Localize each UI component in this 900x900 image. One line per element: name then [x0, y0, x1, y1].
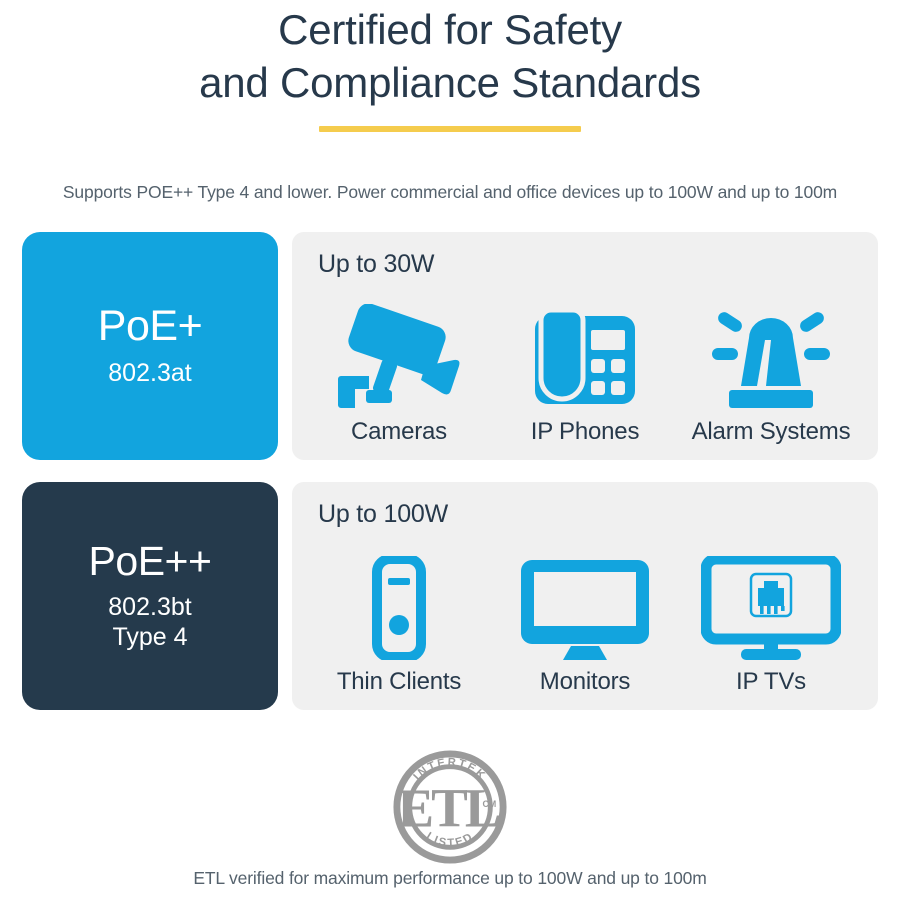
poe-plus-row: PoE+ 802.3at Up to 30W — [22, 232, 878, 460]
device-cell-ip-phones: IP Phones — [492, 302, 678, 446]
header: Certified for Safety and Compliance Stan… — [0, 0, 900, 132]
poe-plusplus-type: Type 4 — [112, 623, 187, 653]
poe-plusplus-name: PoE++ — [89, 540, 212, 583]
poe-plus-standard: 802.3at — [108, 359, 191, 389]
etl-superscript-cm: CM — [482, 799, 496, 809]
device-cell-cameras: Cameras — [306, 302, 492, 446]
poe-plus-name: PoE+ — [98, 304, 202, 349]
poe-plus-badge-card: PoE+ 802.3at — [22, 232, 278, 460]
device-cell-ip-tvs: IP TVs — [678, 556, 864, 696]
etl-logo-wrapper: INTERTEK LISTED ETL CM — [0, 748, 900, 866]
title-accent-rule — [319, 126, 581, 132]
security-camera-icon — [333, 302, 465, 410]
thin-client-icon — [366, 556, 432, 660]
poe-plus-power-heading: Up to 30W — [318, 250, 434, 279]
device-label-ip-phones: IP Phones — [531, 418, 640, 446]
device-label-cameras: Cameras — [351, 418, 447, 446]
page-title-line-2: and Compliance Standards — [0, 57, 900, 110]
ip-phone-icon — [529, 302, 641, 410]
poe-plusplus-standard: 802.3bt — [108, 593, 191, 623]
page-title-line-1: Certified for Safety — [0, 4, 900, 57]
device-label-monitors: Monitors — [540, 668, 630, 696]
device-cell-thin-clients: Thin Clients — [306, 556, 492, 696]
device-cell-alarm-systems: Alarm Systems — [678, 302, 864, 446]
poe-plus-icon-grid: Cameras IP Phones — [306, 288, 864, 446]
device-label-thin-clients: Thin Clients — [337, 668, 461, 696]
poe-plusplus-badge-card: PoE++ 802.3bt Type 4 — [22, 482, 278, 710]
poe-plus-device-panel: Up to 30W Cameras — [292, 232, 878, 460]
poe-plusplus-row: PoE++ 802.3bt Type 4 Up to 100W Thin Cli… — [22, 482, 878, 710]
etl-listed-intertek-logo: INTERTEK LISTED ETL CM — [391, 748, 509, 866]
device-cell-monitors: Monitors — [492, 556, 678, 696]
subtitle-text: Supports POE++ Type 4 and lower. Power c… — [0, 182, 900, 203]
poe-plusplus-device-panel: Up to 100W Thin Clients — [292, 482, 878, 710]
poe-plusplus-power-heading: Up to 100W — [318, 500, 448, 529]
device-label-alarm-systems: Alarm Systems — [692, 418, 851, 446]
poe-plusplus-icon-grid: Thin Clients Monitors — [306, 538, 864, 696]
monitor-icon — [517, 556, 653, 660]
ip-tv-icon — [701, 556, 841, 660]
etl-footer-note: ETL verified for maximum performance up … — [0, 868, 900, 889]
device-label-ip-tvs: IP TVs — [736, 668, 806, 696]
alarm-siren-icon — [699, 302, 843, 410]
